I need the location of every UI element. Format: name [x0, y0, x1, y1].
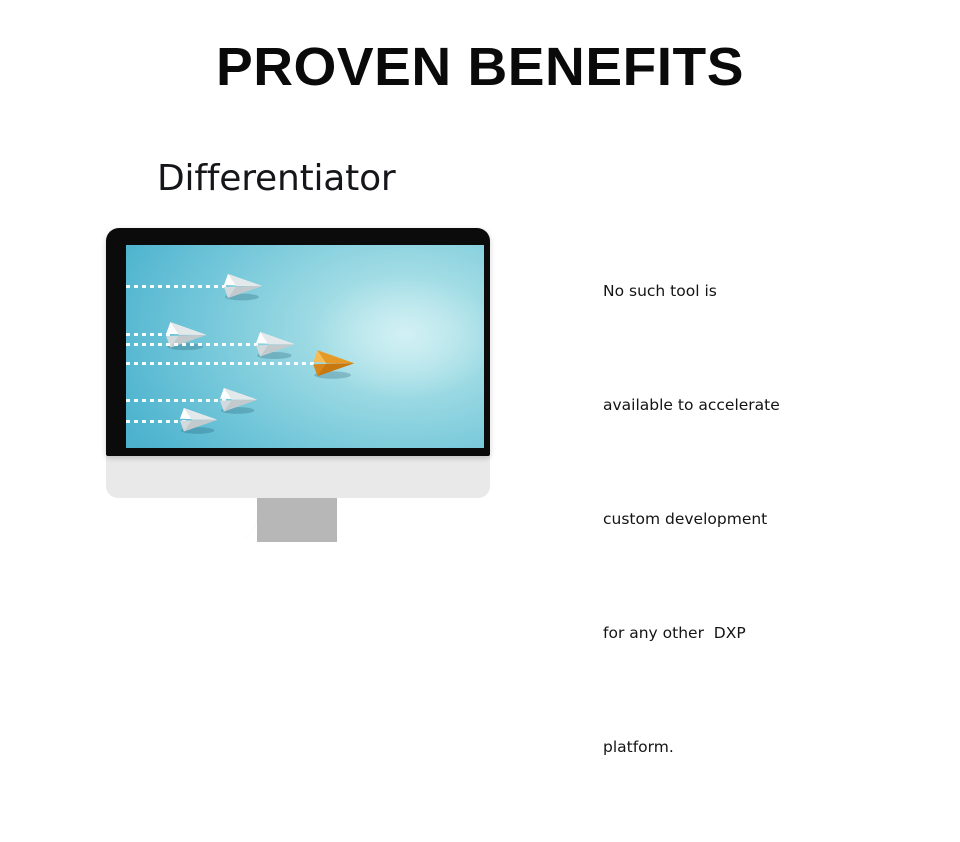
- white-paper-plane-icon: [178, 405, 221, 434]
- monitor-stand: [257, 496, 337, 542]
- plane-trail: [126, 420, 186, 423]
- body-line: platform.: [603, 728, 871, 766]
- plane-trail: [126, 343, 262, 346]
- body-line: No such tool is: [603, 272, 871, 310]
- plane-trail: [126, 399, 226, 402]
- subheading: Differentiator: [157, 158, 396, 199]
- monitor-chin: [106, 456, 490, 498]
- plane-trail: [126, 362, 318, 365]
- monitor-bezel: [106, 228, 490, 456]
- orange-paper-plane-icon: [311, 347, 359, 379]
- body-line: custom development: [603, 500, 871, 538]
- white-paper-plane-icon: [254, 329, 299, 360]
- screen-glow: [312, 273, 484, 399]
- page-title: PROVEN BENEFITS: [0, 38, 960, 97]
- white-paper-plane-icon: [222, 271, 266, 301]
- monitor-screen: [126, 245, 484, 448]
- body-line: for any other DXP: [603, 614, 871, 652]
- plane-trail: [126, 285, 230, 288]
- white-paper-plane-icon: [218, 385, 261, 414]
- body-paragraph: No such tool is available to accelerate …: [603, 196, 871, 842]
- body-line: available to accelerate: [603, 386, 871, 424]
- monitor-illustration: [100, 228, 490, 540]
- slide-canvas: PROVEN BENEFITS Differentiator No such t…: [0, 0, 960, 540]
- white-paper-plane-icon: [164, 319, 211, 351]
